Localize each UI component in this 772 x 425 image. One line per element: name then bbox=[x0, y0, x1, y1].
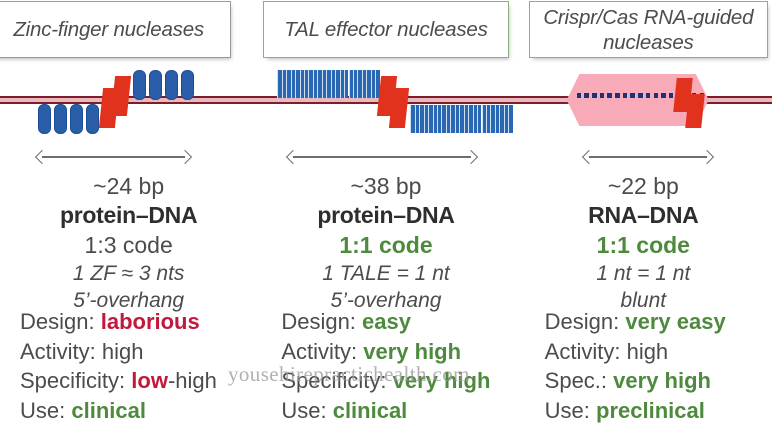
stats-zinc-finger: ~24 bp protein–DNA 1:3 code 1 ZF ≈ 3 nts… bbox=[0, 171, 257, 314]
arrow-head-right-icon bbox=[700, 149, 714, 163]
header-title-tal-effector: TAL effector nucleases bbox=[278, 17, 493, 42]
property-row-use: Use: preclinical bbox=[545, 396, 772, 425]
header-box-crispr-cas: Crispr/Cas RNA-guided nucleases bbox=[529, 1, 768, 58]
schematic-crispr-cas-nuclease bbox=[515, 62, 772, 140]
property-row-specificity: Spec.: very high bbox=[545, 366, 772, 396]
arrow-head-right-icon bbox=[178, 149, 192, 163]
zinc-finger-module bbox=[133, 70, 146, 100]
property-label: Activity: bbox=[20, 339, 96, 364]
guide-rna-base bbox=[615, 93, 620, 98]
guide-rna-base bbox=[638, 93, 643, 98]
property-value: clinical bbox=[71, 398, 146, 423]
interaction-type: protein–DNA bbox=[0, 201, 257, 230]
span-label: ~22 bp bbox=[515, 171, 772, 201]
code-ratio: 1:1 code bbox=[257, 230, 514, 260]
span-label: ~24 bp bbox=[0, 171, 257, 201]
property-value: very high bbox=[613, 368, 711, 393]
property-row-use: Use: clinical bbox=[281, 396, 538, 425]
dna-strand-bottom bbox=[0, 102, 257, 104]
property-row-design: Design: very easy bbox=[545, 307, 772, 337]
property-value: high bbox=[102, 339, 144, 364]
arrow-line bbox=[589, 156, 707, 158]
arrow-line bbox=[293, 156, 471, 158]
zinc-finger-module bbox=[86, 104, 99, 134]
property-label: Activity: bbox=[281, 339, 357, 364]
property-row-specificity: Specificity: very high bbox=[281, 366, 538, 396]
property-row-activity: Activity: very high bbox=[281, 337, 538, 367]
property-label: Specificity: bbox=[20, 368, 125, 393]
property-label: Use: bbox=[281, 398, 326, 423]
guide-rna-base bbox=[577, 93, 582, 98]
properties-zinc-finger: Design: laborious Activity: high Specifi… bbox=[20, 307, 277, 425]
property-value: high bbox=[627, 339, 669, 364]
interaction-type: RNA–DNA bbox=[515, 201, 772, 230]
note-line-1: 1 TALE = 1 nt bbox=[257, 260, 514, 287]
property-value: laborious bbox=[101, 309, 200, 334]
arrow-head-right-icon bbox=[464, 149, 478, 163]
property-label: Use: bbox=[545, 398, 590, 423]
guide-rna-base bbox=[669, 93, 674, 98]
schematic-zinc-finger-nuclease bbox=[0, 62, 257, 140]
interaction-type: protein–DNA bbox=[257, 201, 514, 230]
fok1-domain-lower bbox=[389, 88, 409, 128]
column-zinc-finger-nucleases: Zinc-finger nucleases ~24 bp bbox=[0, 0, 257, 418]
arrow-head-left-icon bbox=[286, 149, 300, 163]
span-arrow-zinc-finger bbox=[36, 150, 191, 164]
span-arrow-tal-effector bbox=[287, 150, 477, 164]
span-arrow-crispr-cas bbox=[583, 150, 713, 164]
property-value-suffix: -high bbox=[168, 368, 217, 393]
nuclease-domain-lower bbox=[685, 94, 705, 128]
properties-crispr-cas: Design: very easy Activity: high Spec.: … bbox=[545, 307, 772, 425]
property-value: low bbox=[131, 368, 168, 393]
property-value: easy bbox=[362, 309, 411, 334]
note-line-1: 1 ZF ≈ 3 nts bbox=[0, 260, 257, 287]
property-label: Design: bbox=[20, 309, 95, 334]
span-label: ~38 bp bbox=[257, 171, 514, 201]
guide-rna-base bbox=[600, 93, 605, 98]
code-ratio: 1:1 code bbox=[515, 230, 772, 260]
property-row-activity: Activity: high bbox=[545, 337, 772, 367]
property-label: Use: bbox=[20, 398, 65, 423]
property-label: Activity: bbox=[545, 339, 621, 364]
zinc-finger-module bbox=[149, 70, 162, 100]
property-label: Spec.: bbox=[545, 368, 607, 393]
arrow-head-left-icon bbox=[582, 149, 596, 163]
guide-rna-base bbox=[661, 93, 666, 98]
header-box-zinc-finger: Zinc-finger nucleases bbox=[0, 1, 231, 58]
header-title-crispr-cas: Crispr/Cas RNA-guided nucleases bbox=[530, 5, 767, 55]
property-row-design: Design: laborious bbox=[20, 307, 277, 337]
tale-repeat-array-left bbox=[277, 70, 379, 98]
schematic-tal-effector-nuclease bbox=[257, 62, 514, 140]
property-value: very high bbox=[393, 368, 491, 393]
tale-repeat-unit bbox=[508, 105, 512, 133]
property-label: Specificity: bbox=[281, 368, 386, 393]
stats-tal-effector: ~38 bp protein–DNA 1:1 code 1 TALE = 1 n… bbox=[257, 171, 514, 314]
code-ratio: 1:3 code bbox=[0, 230, 257, 260]
properties-tal-effector: Design: easy Activity: very high Specifi… bbox=[281, 307, 538, 425]
guide-rna-base bbox=[623, 93, 628, 98]
stats-crispr-cas: ~22 bp RNA–DNA 1:1 code 1 nt = 1 nt blun… bbox=[515, 171, 772, 314]
property-row-activity: Activity: high bbox=[20, 337, 277, 367]
property-value: very easy bbox=[625, 309, 725, 334]
header-box-tal-effector: TAL effector nucleases bbox=[263, 1, 508, 58]
guide-rna-base bbox=[584, 93, 589, 98]
guide-rna-base bbox=[607, 93, 612, 98]
arrow-head-left-icon bbox=[35, 149, 49, 163]
property-row-specificity: Specificity: low-high bbox=[20, 366, 277, 396]
column-crispr-cas-rna-guided-nucleases: Crispr/Cas RNA-guided nucleases ~22 bp R… bbox=[515, 0, 772, 418]
note-line-1: 1 nt = 1 nt bbox=[515, 260, 772, 287]
property-value: preclinical bbox=[596, 398, 705, 423]
property-row-use: Use: clinical bbox=[20, 396, 277, 425]
guide-rna-base bbox=[654, 93, 659, 98]
arrow-line bbox=[42, 156, 185, 158]
zinc-finger-module bbox=[54, 104, 67, 134]
zinc-finger-module bbox=[70, 104, 83, 134]
property-value: clinical bbox=[333, 398, 408, 423]
guide-rna-base bbox=[630, 93, 635, 98]
zinc-finger-module bbox=[181, 70, 194, 100]
comparison-figure: Zinc-finger nucleases ~24 bp bbox=[0, 0, 772, 418]
guide-rna-base bbox=[592, 93, 597, 98]
zinc-finger-module bbox=[165, 70, 178, 100]
column-tal-effector-nucleases: TAL effector nucleases ~38 bp protein–DN… bbox=[257, 0, 514, 418]
header-title-zinc-finger: Zinc-finger nucleases bbox=[7, 17, 210, 42]
property-label: Design: bbox=[545, 309, 620, 334]
property-label: Design: bbox=[281, 309, 356, 334]
property-value: very high bbox=[363, 339, 461, 364]
zinc-finger-module bbox=[38, 104, 51, 134]
guide-rna-base bbox=[646, 93, 651, 98]
property-row-design: Design: easy bbox=[281, 307, 538, 337]
fok1-domain-upper bbox=[111, 76, 131, 116]
tale-repeat-array-right bbox=[410, 105, 512, 133]
